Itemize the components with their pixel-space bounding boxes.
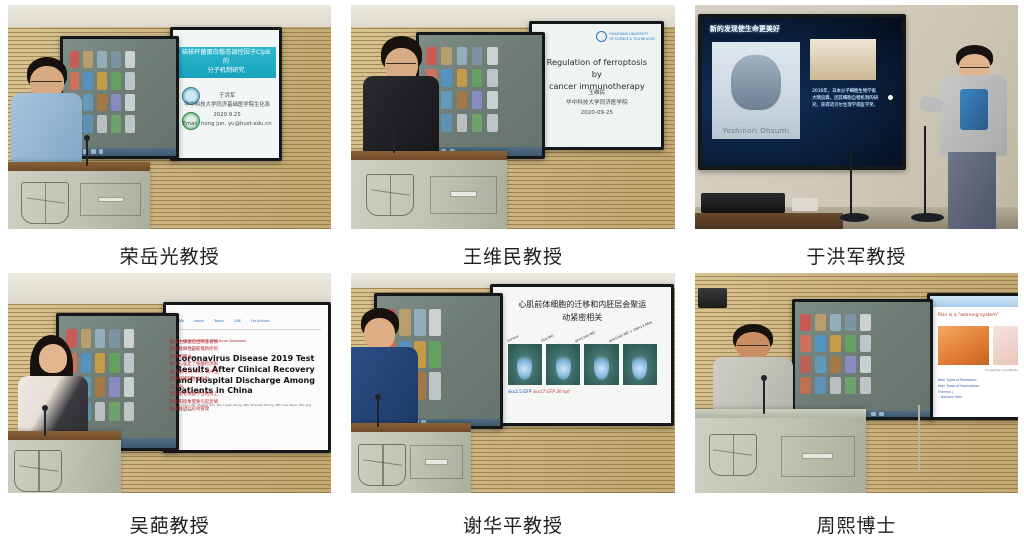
av-cabinet xyxy=(701,193,785,213)
glasses-icon xyxy=(737,345,768,349)
desktop-icon xyxy=(97,51,107,68)
desktop-icon xyxy=(125,51,135,68)
desktop-icon xyxy=(95,402,105,422)
caption-4: 吴葩教授 xyxy=(8,493,331,545)
slide-subtext: 于洪军 华中科技大学同济基础医学院生化系 2020.9.25 Email: ho… xyxy=(181,92,273,130)
desktop-icon xyxy=(830,356,841,373)
figure-caption-a: nkx2.5:GFP xyxy=(508,389,532,394)
fluorescence-panel xyxy=(546,344,580,385)
podium-6 xyxy=(695,409,866,493)
desktop-icon xyxy=(441,69,452,87)
panel-label: gna13ab MO xyxy=(574,327,603,343)
slide-list: Main Types of Receptors: Main Types of N… xyxy=(938,378,993,401)
desktop-board-left xyxy=(792,299,934,419)
desktop-icon xyxy=(815,335,826,352)
gallery-cell-6: Pain is a "warning system" Congenital in… xyxy=(695,273,1018,545)
podium-5 xyxy=(351,423,471,493)
ceiling xyxy=(8,5,331,27)
caption-5: 谢华平教授 xyxy=(351,493,674,545)
podium-logo-icon xyxy=(358,444,406,486)
slide-title-band: 结核杆菌蛋白稳态调控因子ClpB的 分子机制研究 xyxy=(176,47,276,78)
desktop-icon xyxy=(429,309,441,336)
gallery-cell-2: HUAZHONG UNIVERSITY OF SCIENCE & TECHNOL… xyxy=(351,5,674,273)
desktop-icon xyxy=(97,94,107,111)
photo-5: 心肌前体细胞的迁移和内胚层会聚运 动紧密相关 Control rfod MO g… xyxy=(351,273,674,493)
slide-date: 2020.9.25 xyxy=(181,111,273,120)
glasses-icon xyxy=(31,81,62,85)
slide-title-line1: Regulation of ferroptosis by xyxy=(543,56,652,81)
fluorescence-panels xyxy=(508,344,657,385)
desktop-icon xyxy=(95,353,105,373)
slide-title: 新的发现使生命更美好 xyxy=(710,24,780,34)
desktop-icon xyxy=(472,114,483,132)
desktop-icon xyxy=(124,402,134,422)
desktop-icon xyxy=(111,51,121,68)
desktop-icon xyxy=(845,314,856,331)
podium-handle xyxy=(425,459,448,465)
slide-date: 2020-09-25 xyxy=(543,108,652,118)
desktop-icon xyxy=(800,314,811,331)
photo-1: 结核杆菌蛋白稳态调控因子ClpB的 分子机制研究 于洪军 华中科技大学同济基础医… xyxy=(8,5,331,229)
microphone xyxy=(763,379,765,414)
slide-email: Email: hong jun. yu@hust.edu.cn xyxy=(181,120,273,129)
slide-chinese-bullets: 临床上康复后出院患者核酸复检阳性是疫情防控的关键问题之一 本中心鉴定了核酸检测阳… xyxy=(170,339,222,414)
desktop-icon xyxy=(124,329,134,349)
desktop-icon xyxy=(457,114,468,132)
speaker-3 xyxy=(934,45,1012,229)
podium-logo-icon xyxy=(366,174,414,216)
desktop-icon xyxy=(830,335,841,352)
av-cabinet-shelf xyxy=(695,213,844,229)
panel-label: Control xyxy=(506,327,535,343)
tv-screen: 新的发现使生命更美好 Yoshinori Ohsumi 2016年，日本分子细胞… xyxy=(702,18,902,166)
fluorescence-panel xyxy=(584,344,618,385)
podium-top-edge xyxy=(351,151,506,160)
journal-nav-item[interactable]: Topics xyxy=(214,319,224,323)
slide-title-line1: 心肌前体细胞的迁移和内胚层会聚运 xyxy=(502,299,662,312)
ceiling xyxy=(8,273,331,304)
desktop-icon xyxy=(83,115,93,132)
desktop-icon xyxy=(457,69,468,87)
projection-screen-right: Pain is a "warning system" Congenital in… xyxy=(927,293,1018,420)
desktop-icon xyxy=(860,377,871,394)
photo-gallery: 结核杆菌蛋白稳态调控因子ClpB的 分子机制研究 于洪军 华中科技大学同济基础医… xyxy=(0,0,1024,552)
slide-affiliation: 华中科技大学同济医学院 xyxy=(543,98,652,108)
desktop-icon xyxy=(860,314,871,331)
flat-panel-display: 新的发现使生命更美好 Yoshinori Ohsumi 2016年，日本分子细胞… xyxy=(698,14,906,170)
podium-1 xyxy=(8,162,150,229)
podium-top-edge xyxy=(695,409,866,418)
slide-title: Pain is a "warning system" xyxy=(938,313,999,318)
desktop-icon xyxy=(109,329,119,349)
desktop-icon xyxy=(111,72,121,89)
microphone xyxy=(44,409,46,435)
journal-nav-item[interactable]: For Authors xyxy=(251,319,269,323)
clinical-photo-right xyxy=(993,326,1018,365)
desktop-icon xyxy=(487,114,498,132)
podium-logo-icon xyxy=(709,434,757,476)
desktop-icon xyxy=(800,335,811,352)
gallery-cell-3: 新的发现使生命更美好 Yoshinori Ohsumi 2016年，日本分子细胞… xyxy=(695,5,1018,273)
desktop-icon xyxy=(487,69,498,87)
desktop-icon xyxy=(457,47,468,65)
podium-handle xyxy=(450,191,478,197)
podium-handle xyxy=(98,197,124,202)
slide-presenter: 于洪军 xyxy=(181,92,273,101)
desktop-icon xyxy=(860,335,871,352)
desktop-icon xyxy=(845,356,856,373)
desktop-icon xyxy=(429,341,441,368)
desktop-icon xyxy=(800,377,811,394)
desktop-icon xyxy=(111,94,121,111)
photo-3: 新的发现使生命更美好 Yoshinori Ohsumi 2016年，日本分子细胞… xyxy=(695,5,1018,229)
desktop-icon xyxy=(97,115,107,132)
desktop-icon xyxy=(487,47,498,65)
fluorescence-panel xyxy=(508,344,542,385)
slide-body-text: 2016年，日本分子细胞生物学家大隅良典，因其细胞自噬机制的研究，获得诺贝尔生理… xyxy=(812,89,878,109)
figure-caption: nkx2.5:GFP sox17:GFP 26 hpf xyxy=(508,389,570,394)
mic-stand-2 xyxy=(924,126,926,216)
microphone xyxy=(86,139,88,166)
secondary-thumbnail xyxy=(810,39,876,80)
caption-3: 于洪军教授 xyxy=(695,229,1018,273)
desktop-icon xyxy=(125,94,135,111)
desktop-icon xyxy=(860,356,871,373)
portrait-image: Yoshinori Ohsumi xyxy=(712,42,800,140)
image-caption: Congenital insensitivity to pain xyxy=(977,368,1018,372)
caption-6: 周熙博士 xyxy=(695,493,1018,545)
portrait-name: Yoshinori Ohsumi xyxy=(712,127,800,135)
desktop-icon xyxy=(441,91,452,109)
torso xyxy=(351,347,418,429)
desktop-icon xyxy=(472,91,483,109)
slide-title-line2: 分子机制研究 xyxy=(180,67,272,76)
desktop-icon xyxy=(830,377,841,394)
projection-screen-right: 心肌前体细胞的迁移和内胚层会聚运 动紧密相关 Control rfod MO g… xyxy=(490,284,674,426)
podium-top-edge xyxy=(351,423,471,432)
gallery-cell-4: JAMA Issues Topics CME For Authors Resea… xyxy=(8,273,331,545)
desktop-icon xyxy=(815,377,826,394)
glasses-icon xyxy=(386,63,416,67)
journal-nav-item[interactable]: Issues xyxy=(194,319,204,323)
projector-cable xyxy=(918,405,920,471)
desktop-icon xyxy=(800,356,811,373)
figure-caption-b: sox17:GFP 26 hpf xyxy=(533,389,570,394)
slide-title-line1: 结核杆菌蛋白稳态调控因子ClpB的 xyxy=(180,49,272,67)
projection-screen-right: HUAZHONG UNIVERSITY OF SCIENCE & TECHNOL… xyxy=(529,21,664,150)
desktop-icon xyxy=(109,377,119,397)
clinical-photo-left xyxy=(938,326,990,365)
desktop-icon xyxy=(95,329,105,349)
desktop-icon xyxy=(124,353,134,373)
logo-ring-icon xyxy=(596,31,607,42)
desktop-icon xyxy=(95,377,105,397)
slide-title-line2: 动紧密相关 xyxy=(502,312,662,325)
journal-nav: JAMA Issues Topics CME For Authors xyxy=(176,312,322,330)
head xyxy=(364,318,395,349)
desktop-icon xyxy=(124,377,134,397)
photo-2: HUAZHONG UNIVERSITY OF SCIENCE & TECHNOL… xyxy=(351,5,674,229)
desktop-icon xyxy=(441,114,452,132)
journal-nav-item[interactable]: CME xyxy=(234,319,241,323)
gallery-cell-5: 心肌前体细胞的迁移和内胚层会聚运 动紧密相关 Control rfod MO g… xyxy=(351,273,674,545)
mic-stand xyxy=(850,151,852,216)
slide-presenter: 王维民 xyxy=(543,88,652,98)
desktop-icon xyxy=(109,353,119,373)
desktop-icon xyxy=(472,47,483,65)
photo-4: JAMA Issues Topics CME For Authors Resea… xyxy=(8,273,331,493)
desktop-icon xyxy=(845,377,856,394)
list-item: -- Noxious heat xyxy=(938,395,993,401)
podium-logo-icon xyxy=(21,182,69,224)
university-logo: HUAZHONG UNIVERSITY OF SCIENCE & TECHNOL… xyxy=(596,31,655,42)
logo-text-line2: OF SCIENCE & TECHNOLOGY xyxy=(609,37,655,41)
legs-jeans xyxy=(948,152,996,229)
slide-subtext: 王维民 华中科技大学同济医学院 2020-09-25 xyxy=(543,88,652,118)
fluorescence-panel xyxy=(623,344,657,385)
desktop-icon-grid xyxy=(800,314,871,394)
photo-6: Pain is a "warning system" Congenital in… xyxy=(695,273,1018,493)
speaker-5 xyxy=(351,308,412,429)
power-led-icon xyxy=(888,95,893,100)
desktop-icon xyxy=(441,47,452,65)
glasses-icon xyxy=(960,67,989,71)
slide-1: 结核杆菌蛋白稳态调控因子ClpB的 分子机制研究 于洪军 华中科技大学同济基础医… xyxy=(173,30,280,158)
desktop-icon xyxy=(125,115,135,132)
desktop-icon xyxy=(83,72,93,89)
podium-top-edge xyxy=(8,431,121,440)
logo-text-line1: HUAZHONG UNIVERSITY xyxy=(609,32,655,36)
slide-6: Pain is a "warning system" Congenital in… xyxy=(930,296,1018,417)
panel-labels: Control rfod MO gna13ab MO gna13ab MO + … xyxy=(508,328,657,343)
desktop-icon xyxy=(487,91,498,109)
desktop-icon xyxy=(815,314,826,331)
desktop-icon xyxy=(109,402,119,422)
gallery-cell-1: 结核杆菌蛋白稳态调控因子ClpB的 分子机制研究 于洪军 华中科技大学同济基础医… xyxy=(8,5,331,273)
projector-box xyxy=(792,198,818,211)
podium-2 xyxy=(351,151,506,229)
browser-chrome xyxy=(930,296,1018,307)
podium-handle xyxy=(802,453,833,459)
slide-affiliation: 华中科技大学同济基础医学院生化系 xyxy=(181,101,273,110)
panel-label: rfod MO xyxy=(540,327,569,343)
desktop-icon xyxy=(83,51,93,68)
desktop-icon xyxy=(414,309,426,336)
portrait-face xyxy=(731,55,780,110)
ceiling-speaker xyxy=(698,288,727,308)
podium-top-edge xyxy=(8,162,150,171)
desktop-icon xyxy=(830,314,841,331)
podium-logo-icon xyxy=(14,450,62,492)
caption-1: 荣岳光教授 xyxy=(8,229,331,273)
hoodie-graphic xyxy=(960,89,988,129)
bullet-item: 本中心鉴定了核酸检测阳性占比为14.5%，其中无症状核酸阳性占比为12.0% xyxy=(170,361,222,391)
desktop-icon xyxy=(125,72,135,89)
microphone xyxy=(377,398,379,427)
desktop-icon xyxy=(472,69,483,87)
torso xyxy=(363,76,439,153)
slide-2: HUAZHONG UNIVERSITY OF SCIENCE & TECHNOL… xyxy=(532,24,661,147)
head xyxy=(39,344,67,374)
bullet-item: 出院患者核酸不合格及上述复阳现象需要引起足够重视并进行有效管理 xyxy=(170,391,222,413)
slide-title: 心肌前体细胞的迁移和内胚层会聚运 动紧密相关 xyxy=(502,299,662,325)
speaker-2 xyxy=(367,36,435,152)
desktop-icon xyxy=(845,335,856,352)
desktop-icon xyxy=(457,91,468,109)
desktop-icon xyxy=(83,94,93,111)
desktop-icon xyxy=(815,356,826,373)
desktop-icon xyxy=(429,372,441,399)
slide-5: 心肌前体细胞的迁移和内胚层会聚运 动紧密相关 Control rfod MO g… xyxy=(493,287,671,423)
podium-4 xyxy=(8,431,121,493)
desktop-icon xyxy=(97,72,107,89)
desktop-icon xyxy=(111,115,121,132)
projection-screen-right: 结核杆菌蛋白稳态调控因子ClpB的 分子机制研究 于洪军 华中科技大学同济基础医… xyxy=(170,27,283,161)
bullet-item: 临床上康复后出院患者核酸复检阳性是疫情防控的关键问题之一 xyxy=(170,339,222,361)
caption-2: 王维民教授 xyxy=(351,229,674,273)
